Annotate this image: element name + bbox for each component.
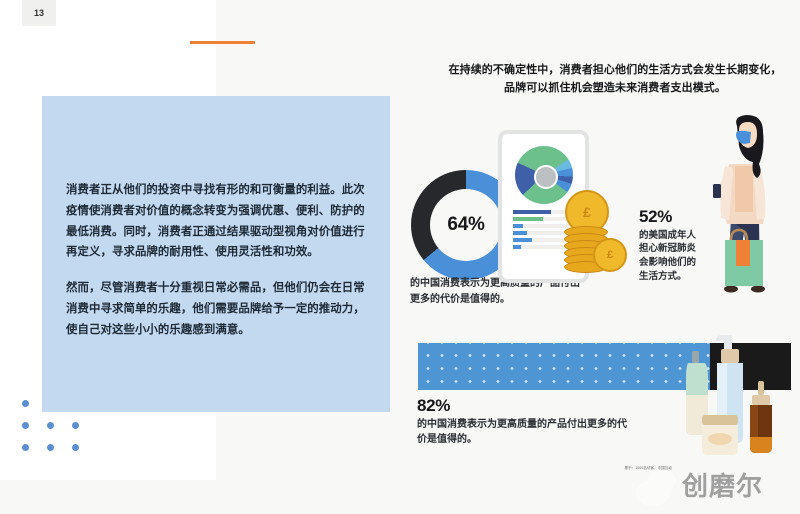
stat-82-value: 82% [417,396,627,416]
stat-52-value: 52% [639,208,701,227]
stat-52-caption: 的美国成年人担心新冠肺炎会影响他们的生活方式。 [639,229,701,284]
stat-block-82: 82% 的中国消费表示为更高质量的产品付出更多的代价是值得的。 [417,396,627,447]
left-panel-text: 消费者正从他们的投资中寻找有形的和可衡量的利益。此次疫情使消费者对价值的概念转变… [66,180,366,340]
heading-line-1: 在持续的不确定性中，消费者担心他们的生活方式会发生长期变化， [442,62,788,80]
heading-line-2: 品牌可以抓住机会塑造未来消费者支出模式。 [442,80,788,98]
background-bottom-strip [0,480,800,514]
coin-stack-illustration: £ £ [563,190,625,275]
stat-82-caption: 的中国消费表示为更高质量的产品付出更多的代价是值得的。 [417,417,627,447]
cosmetics-bottles-illustration [680,333,798,458]
page-number-badge: 13 [22,0,56,26]
left-panel-paragraph-2: 然而，尽管消费者十分重视日常必需品，但他们仍会在日常消费中寻求简单的乐趣，他们需… [66,278,366,340]
donut-chart-64: 64% [411,170,521,280]
left-panel-paragraph-1: 消费者正从他们的投资中寻找有形的和可衡量的利益。此次疫情使消费者对价值的概念转变… [66,180,366,263]
orange-divider-rule [190,41,255,44]
source-note: 基于：1000名访客，中国互动 [598,466,672,471]
stat-block-52: 52% 的美国成年人担心新冠肺炎会影响他们的生活方式。 [639,208,701,284]
donut-value-label: 64% [411,170,521,280]
woman-shopper-illustration [703,112,789,302]
coin-secondary: £ [593,238,627,272]
section-heading: 在持续的不确定性中，消费者担心他们的生活方式会发生长期变化， 品牌可以抓住机会塑… [442,62,788,98]
page-root: 13 消费者正从他们的投资中寻找有形的和可衡量的利益。此次疫情使消费者对价值的概… [0,0,800,514]
